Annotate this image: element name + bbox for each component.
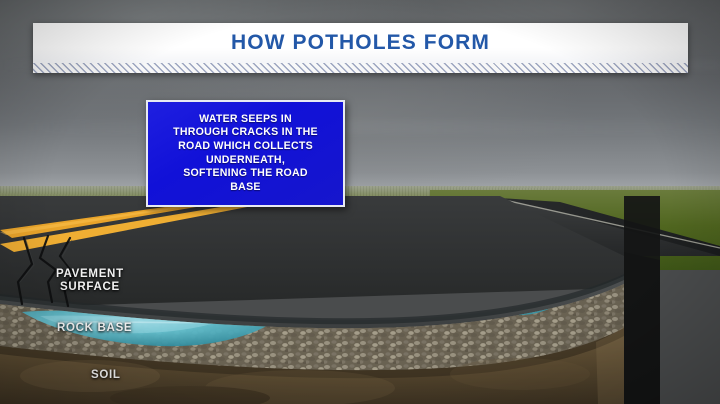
- page-title: HOW POTHOLES FORM: [33, 23, 688, 63]
- cutaway-block: [0, 196, 660, 404]
- title-banner: HOW POTHOLES FORM: [33, 23, 688, 73]
- callout-text: WATER SEEPS IN THROUGH CRACKS IN THE ROA…: [169, 113, 322, 195]
- sky-streak: [0, 120, 720, 134]
- infographic-scene: PAVEMENT SURFACE ROCK BASE SOIL WATER SE…: [0, 0, 720, 404]
- banner-hatch-strip: [33, 63, 688, 73]
- callout-box: WATER SEEPS IN THROUGH CRACKS IN THE ROA…: [146, 100, 345, 207]
